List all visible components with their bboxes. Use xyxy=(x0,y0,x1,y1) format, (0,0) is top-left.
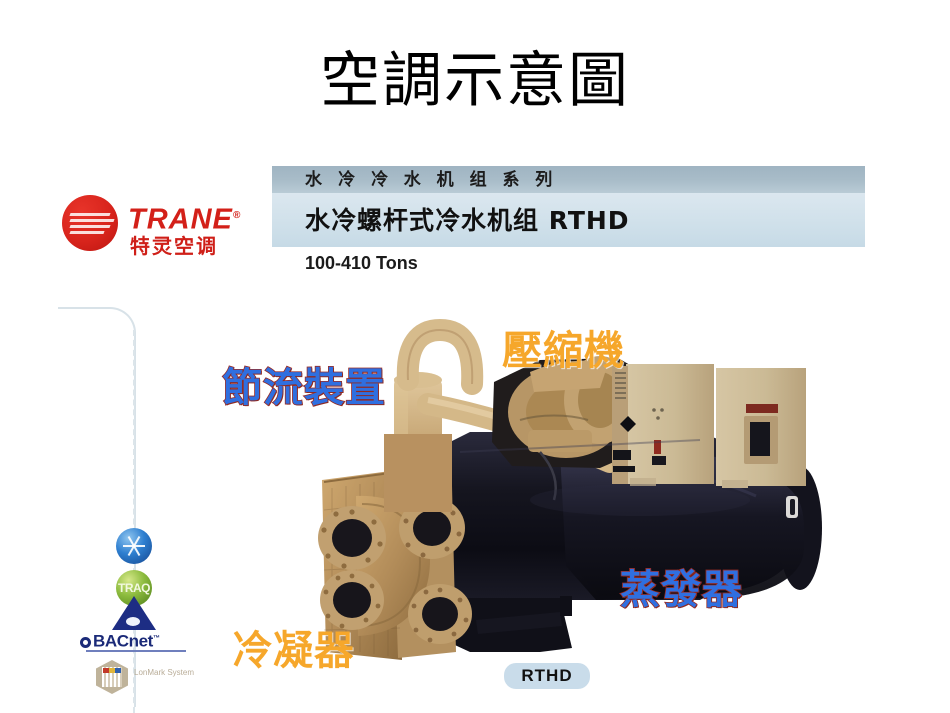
lonmark-label: LonMark System xyxy=(134,668,194,677)
trademark-mark: ™ xyxy=(153,635,160,642)
callout-condenser: 冷凝器 xyxy=(232,628,355,674)
trane-wordmark-text: TRANE xyxy=(128,204,233,236)
trane-wordmark: TRANE® xyxy=(128,200,241,236)
slide-canvas: 空調示意圖 TRANE® 特灵空调 水 冷 冷 水 机 组 系 列 水冷螺杆式冷… xyxy=(0,0,950,713)
callout-evaporator: 蒸發器 xyxy=(620,567,743,613)
rthd-product-badge: RTHD xyxy=(504,663,590,689)
series-band-label: 水 冷 冷 水 机 组 系 列 xyxy=(305,168,557,192)
trane-mark-icon xyxy=(62,195,118,251)
callout-compressor: 壓縮機 xyxy=(502,328,625,374)
registered-mark: ® xyxy=(233,210,241,221)
bacnet-label: BACnet xyxy=(93,632,153,651)
bacnet-bus-line xyxy=(86,650,186,656)
capacity-label: 100-410 Tons xyxy=(305,251,418,275)
trane-logo: TRANE® 特灵空调 xyxy=(62,192,262,272)
gear-icon xyxy=(80,637,91,648)
lonmark-icon xyxy=(96,660,130,696)
trane-chinese-name: 特灵空调 xyxy=(130,234,218,258)
bacnet-logo: BACnet™ xyxy=(80,628,188,650)
model-band-label: 水冷螺杆式冷水机组 RTHD xyxy=(305,205,630,237)
triangle-inner-dot-icon xyxy=(126,617,140,626)
page-title: 空調示意圖 xyxy=(0,45,950,117)
snowflake-sphere-icon xyxy=(116,528,152,564)
callout-expansion-device: 節流裝置 xyxy=(222,365,386,411)
